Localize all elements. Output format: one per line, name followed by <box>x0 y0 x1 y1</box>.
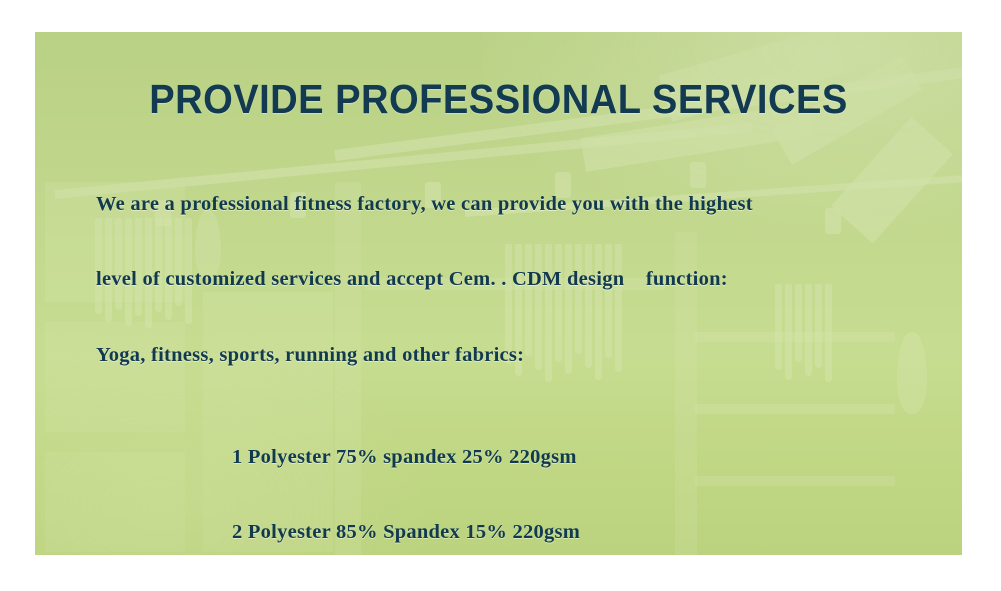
intro-line-1: We are a professional fitness factory, w… <box>96 192 926 217</box>
green-content-panel: PROVIDE PROFESSIONAL SERVICES We are a p… <box>35 32 962 555</box>
fabric-spec-item: 1 Polyester 75% spandex 25% 220gsm <box>96 445 926 470</box>
description-body: We are a professional fitness factory, w… <box>96 141 926 555</box>
promo-banner: PROVIDE PROFESSIONAL SERVICES We are a p… <box>0 0 1001 591</box>
banner-content: PROVIDE PROFESSIONAL SERVICES We are a p… <box>35 32 962 555</box>
fabric-spec-item: 2 Polyester 85% Spandex 15% 220gsm <box>96 520 926 545</box>
intro-line-3: Yoga, fitness, sports, running and other… <box>96 343 926 368</box>
page-title: PROVIDE PROFESSIONAL SERVICES <box>67 76 929 123</box>
intro-line-2: level of customized services and accept … <box>96 267 926 292</box>
